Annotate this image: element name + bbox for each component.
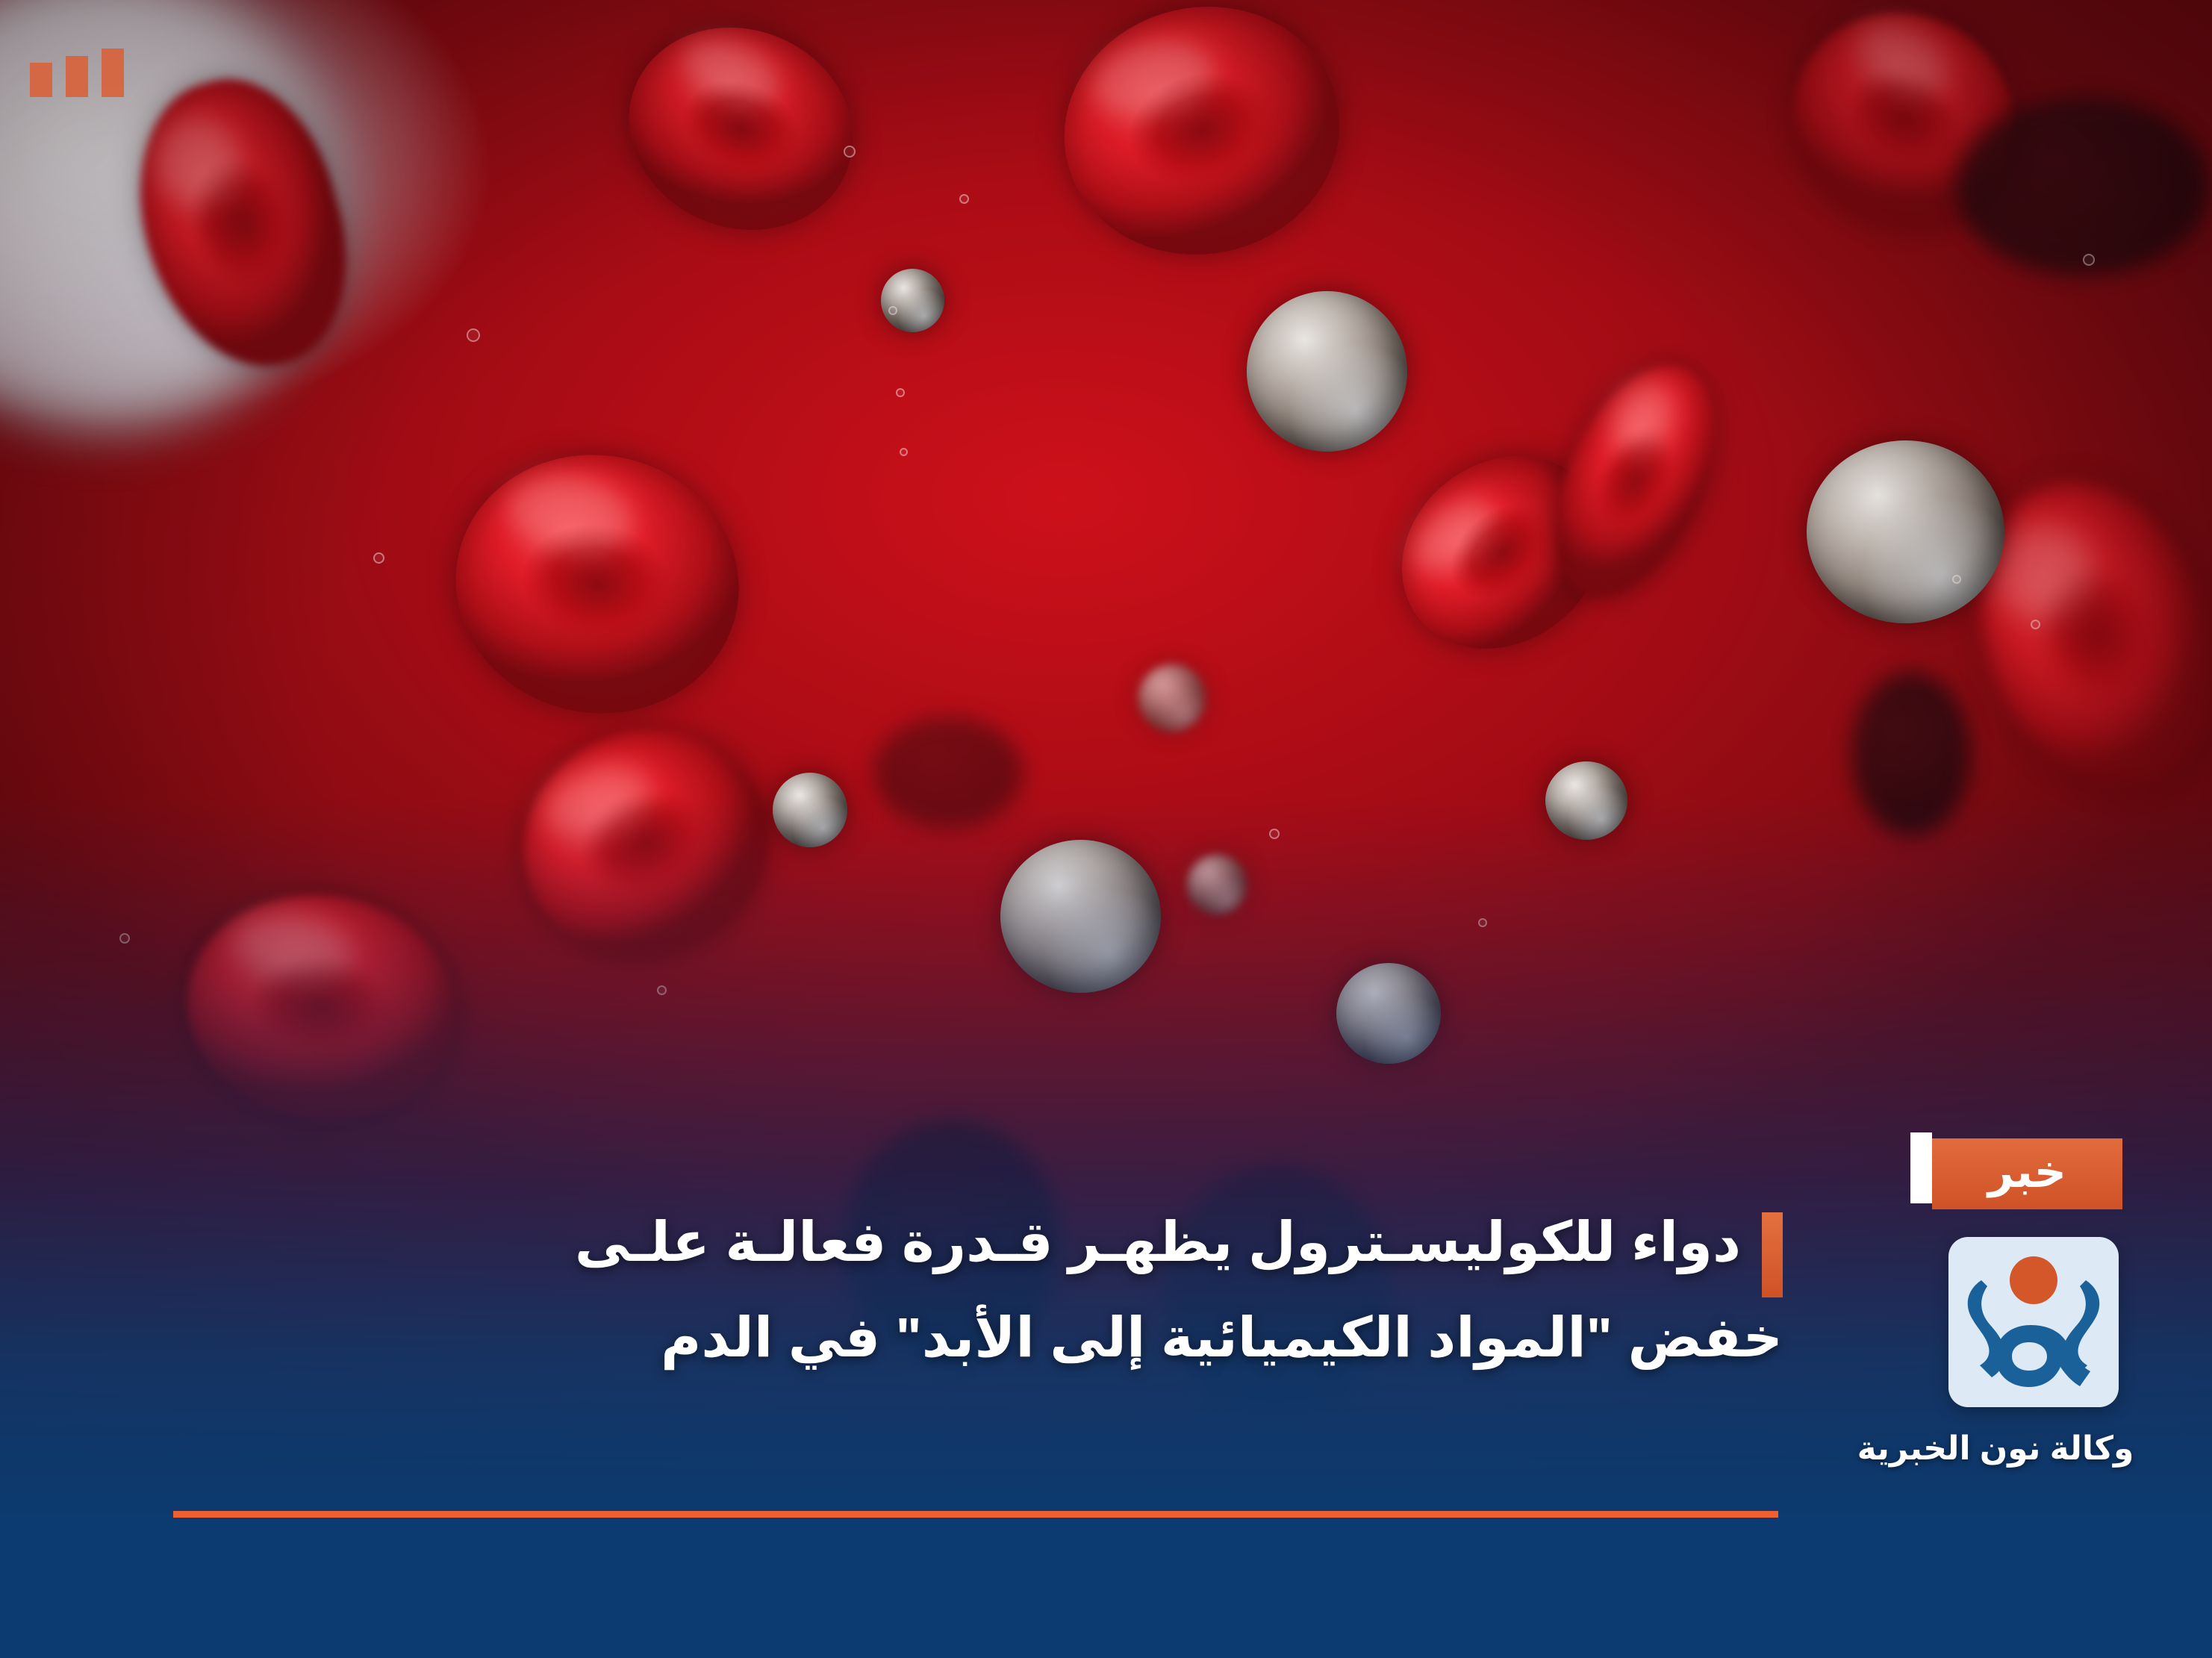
headline-accent-bar [1762,1212,1783,1297]
headline-line-1: دواء للكوليسـترول يظهـر قـدرة فعالـة علـ… [127,1194,1783,1290]
headline-divider [173,1511,1778,1518]
brand-block: خبر وكالة نون الخبرية [1839,1138,2152,1468]
headline-line-2: خفض "المواد الكيميائية إلى الأبد" في الد… [127,1290,1783,1386]
noon-agency-logo-icon [1948,1237,2119,1407]
badge-white-tick [1910,1132,1932,1203]
news-badge-label: خبر [1988,1150,2066,1194]
agency-logo[interactable] [1948,1237,2119,1407]
headline: دواء للكوليسـترول يظهـر قـدرة فعالـة علـ… [127,1194,1783,1386]
news-card: دواء للكوليسـترول يظهـر قـدرة فعالـة علـ… [0,0,2212,1658]
agency-name: وكالة نون الخبرية [1839,1430,2152,1468]
three-bars-mark-icon [30,49,124,97]
news-badge: خبر [1932,1138,2122,1209]
